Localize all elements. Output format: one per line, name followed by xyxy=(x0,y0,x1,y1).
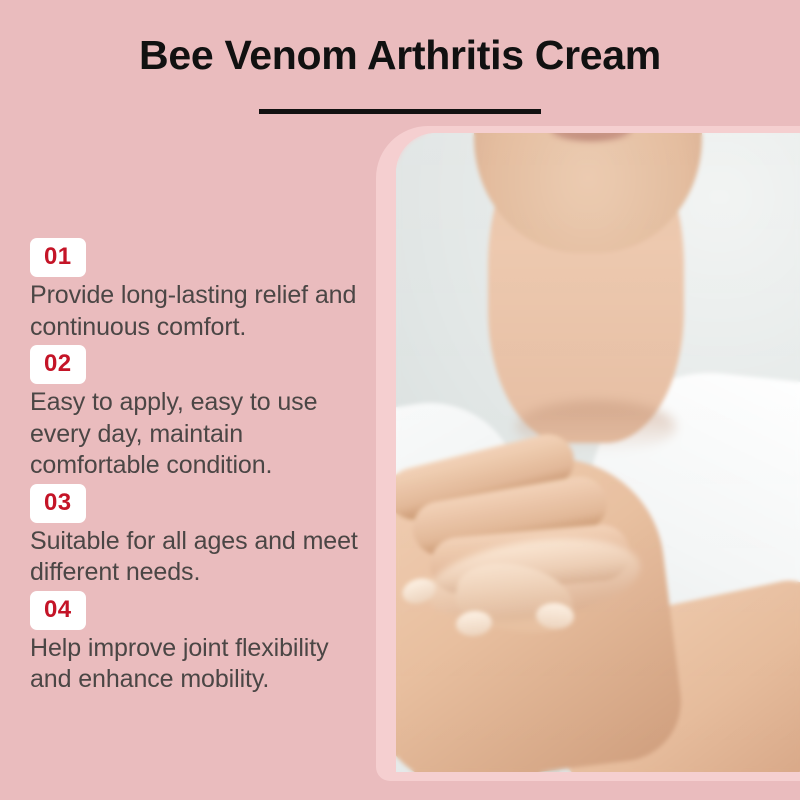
feature-item-03: 03 Suitable for all ages and meet differ… xyxy=(30,484,360,589)
feature-item-04: 04 Help improve joint flexibility and en… xyxy=(30,591,360,696)
feature-number-badge-02: 02 xyxy=(30,345,86,384)
page-title: Bee Venom Arthritis Cream xyxy=(0,32,800,79)
feature-text-02: Easy to apply, easy to use every day, ma… xyxy=(30,387,360,482)
feature-number-badge-04: 04 xyxy=(30,591,86,630)
title-underline-rule xyxy=(259,109,541,114)
feature-number-badge-01: 01 xyxy=(30,238,86,277)
photo-soft-focus-overlay xyxy=(396,133,800,772)
feature-text-01: Provide long-lasting relief and continuo… xyxy=(30,280,360,343)
feature-text-04: Help improve joint flexibility and enhan… xyxy=(30,633,360,696)
feature-item-01: 01 Provide long-lasting relief and conti… xyxy=(30,238,360,343)
title-block: Bee Venom Arthritis Cream xyxy=(0,32,800,114)
feature-number-badge-03: 03 xyxy=(30,484,86,523)
feature-list: 01 Provide long-lasting relief and conti… xyxy=(30,238,360,698)
feature-text-03: Suitable for all ages and meet different… xyxy=(30,526,360,589)
woman-holding-wrist-photo xyxy=(396,133,800,772)
feature-item-02: 02 Easy to apply, easy to use every day,… xyxy=(30,345,360,482)
product-poster: Bee Venom Arthritis Cream 01 Provide lon… xyxy=(0,0,800,800)
